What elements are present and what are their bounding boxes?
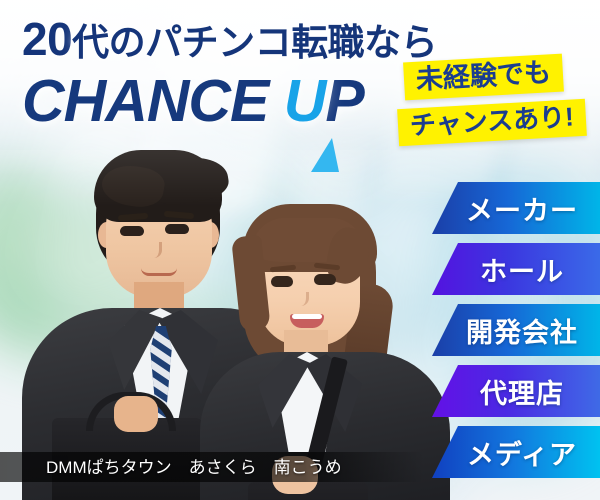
category-bar-maker[interactable]: メーカー bbox=[432, 182, 600, 234]
category-bar-agency[interactable]: 代理店 bbox=[432, 365, 600, 417]
promo-banner[interactable]: 20代のパチンコ転職なら CHANCE UP 未経験でも チャンスあり! メーカ… bbox=[0, 0, 600, 500]
category-bar-development[interactable]: 開発会社 bbox=[432, 304, 600, 356]
category-label-media: メディア bbox=[467, 433, 577, 472]
category-label-agency: 代理店 bbox=[480, 372, 564, 411]
category-bar-hall[interactable]: ホール bbox=[432, 243, 600, 295]
category-label-development: 開発会社 bbox=[466, 311, 578, 350]
caption-credits: DMMぱちタウン あさくら 南こうめ bbox=[46, 456, 426, 480]
category-bar-list: メーカー ホール 開発会社 代理店 メディア bbox=[0, 0, 600, 500]
category-bar-media[interactable]: メディア bbox=[432, 426, 600, 478]
category-label-maker: メーカー bbox=[466, 189, 578, 228]
category-label-hall: ホール bbox=[480, 250, 564, 289]
